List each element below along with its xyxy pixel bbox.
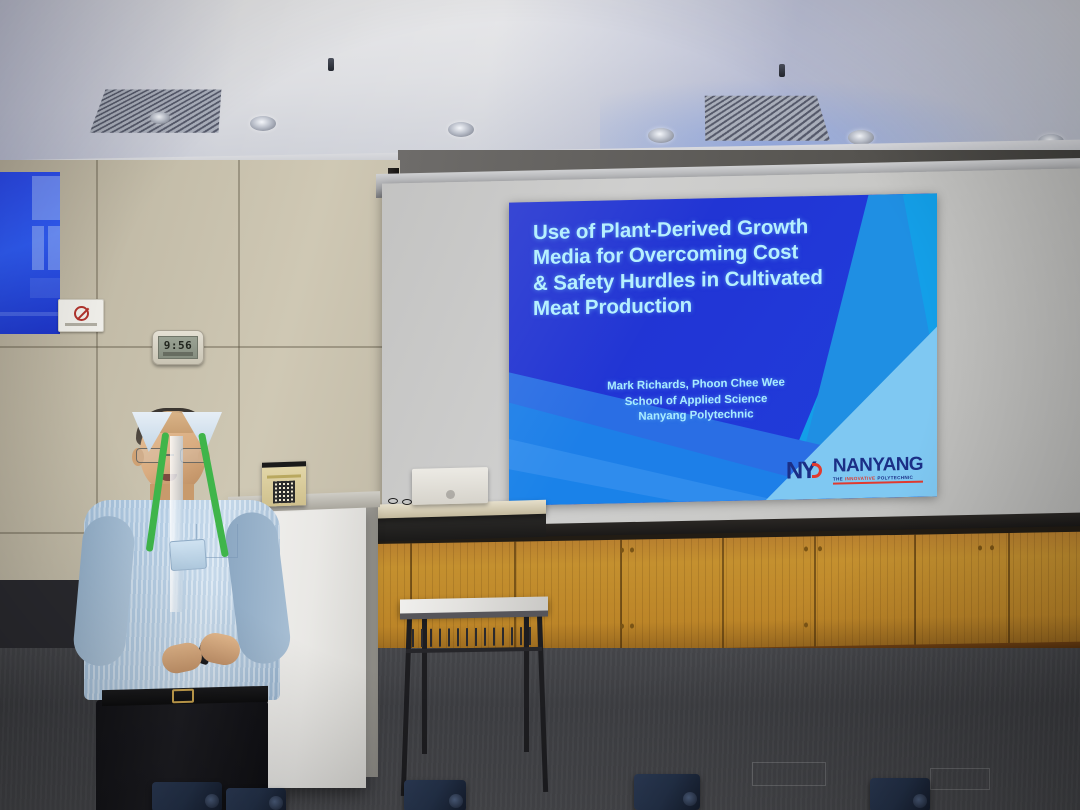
nyp-monogram-icon: NY <box>786 459 830 484</box>
belt-buckle <box>172 689 194 704</box>
downlight-icon <box>448 122 474 137</box>
nyp-tagline-post: POLYTECHNIC <box>877 475 913 481</box>
air-diffuser-icon <box>90 90 222 133</box>
speaker <box>84 412 280 810</box>
presentation-slide: Use of Plant-Derived Growth Media for Ov… <box>509 193 937 505</box>
no-smoking-icon <box>74 306 89 321</box>
audience-chair[interactable] <box>226 788 286 810</box>
nyp-tagline-pre: THE <box>833 477 843 482</box>
nyp-monogram-text: NY <box>786 459 830 484</box>
floor-service-box <box>752 762 826 786</box>
secondary-display <box>0 172 60 334</box>
desk-leg <box>422 604 427 754</box>
air-diffuser-icon <box>705 96 830 141</box>
shirt-placket <box>170 436 183 612</box>
nyp-tagline-accent: INNOVATIVE <box>845 476 875 482</box>
nyp-wordmark-block: NANYANG THE INNOVATIVE POLYTECHNIC <box>833 455 923 485</box>
audience-chair[interactable] <box>870 778 930 810</box>
audience-chair[interactable] <box>152 782 222 810</box>
nyp-wordmark: NANYANG <box>833 455 923 476</box>
no-smoking-sign <box>58 299 104 332</box>
laptop[interactable] <box>412 467 488 505</box>
lecture-hall-photo: 9:56 Use of Plant-Derived Growth Media f… <box>0 0 1080 810</box>
audience-chair[interactable] <box>404 780 466 810</box>
wall-clock: 9:56 <box>152 330 204 365</box>
downlight-icon <box>250 116 276 131</box>
spare-glasses <box>388 498 414 505</box>
slide-subtitle: Mark Richards, Phoon Chee Wee School of … <box>551 374 841 428</box>
id-badge <box>169 539 207 571</box>
downlight-icon <box>648 128 674 143</box>
audience-chair[interactable] <box>634 774 700 810</box>
desk-wire-basket <box>412 627 536 647</box>
clock-time: 9:56 <box>164 340 193 351</box>
clock-lcd-icon: 9:56 <box>158 336 198 359</box>
slide-title: Use of Plant-Derived Growth Media for Ov… <box>533 213 883 322</box>
sign-text-placeholder <box>65 323 97 326</box>
floor-service-box <box>930 768 990 790</box>
nyp-logo: NY NANYANG THE INNOVATIVE POLYTECHNIC <box>786 455 923 486</box>
sprinkler-head-icon <box>779 64 785 77</box>
sprinkler-head-icon <box>328 58 334 71</box>
downlight-icon <box>150 112 170 124</box>
